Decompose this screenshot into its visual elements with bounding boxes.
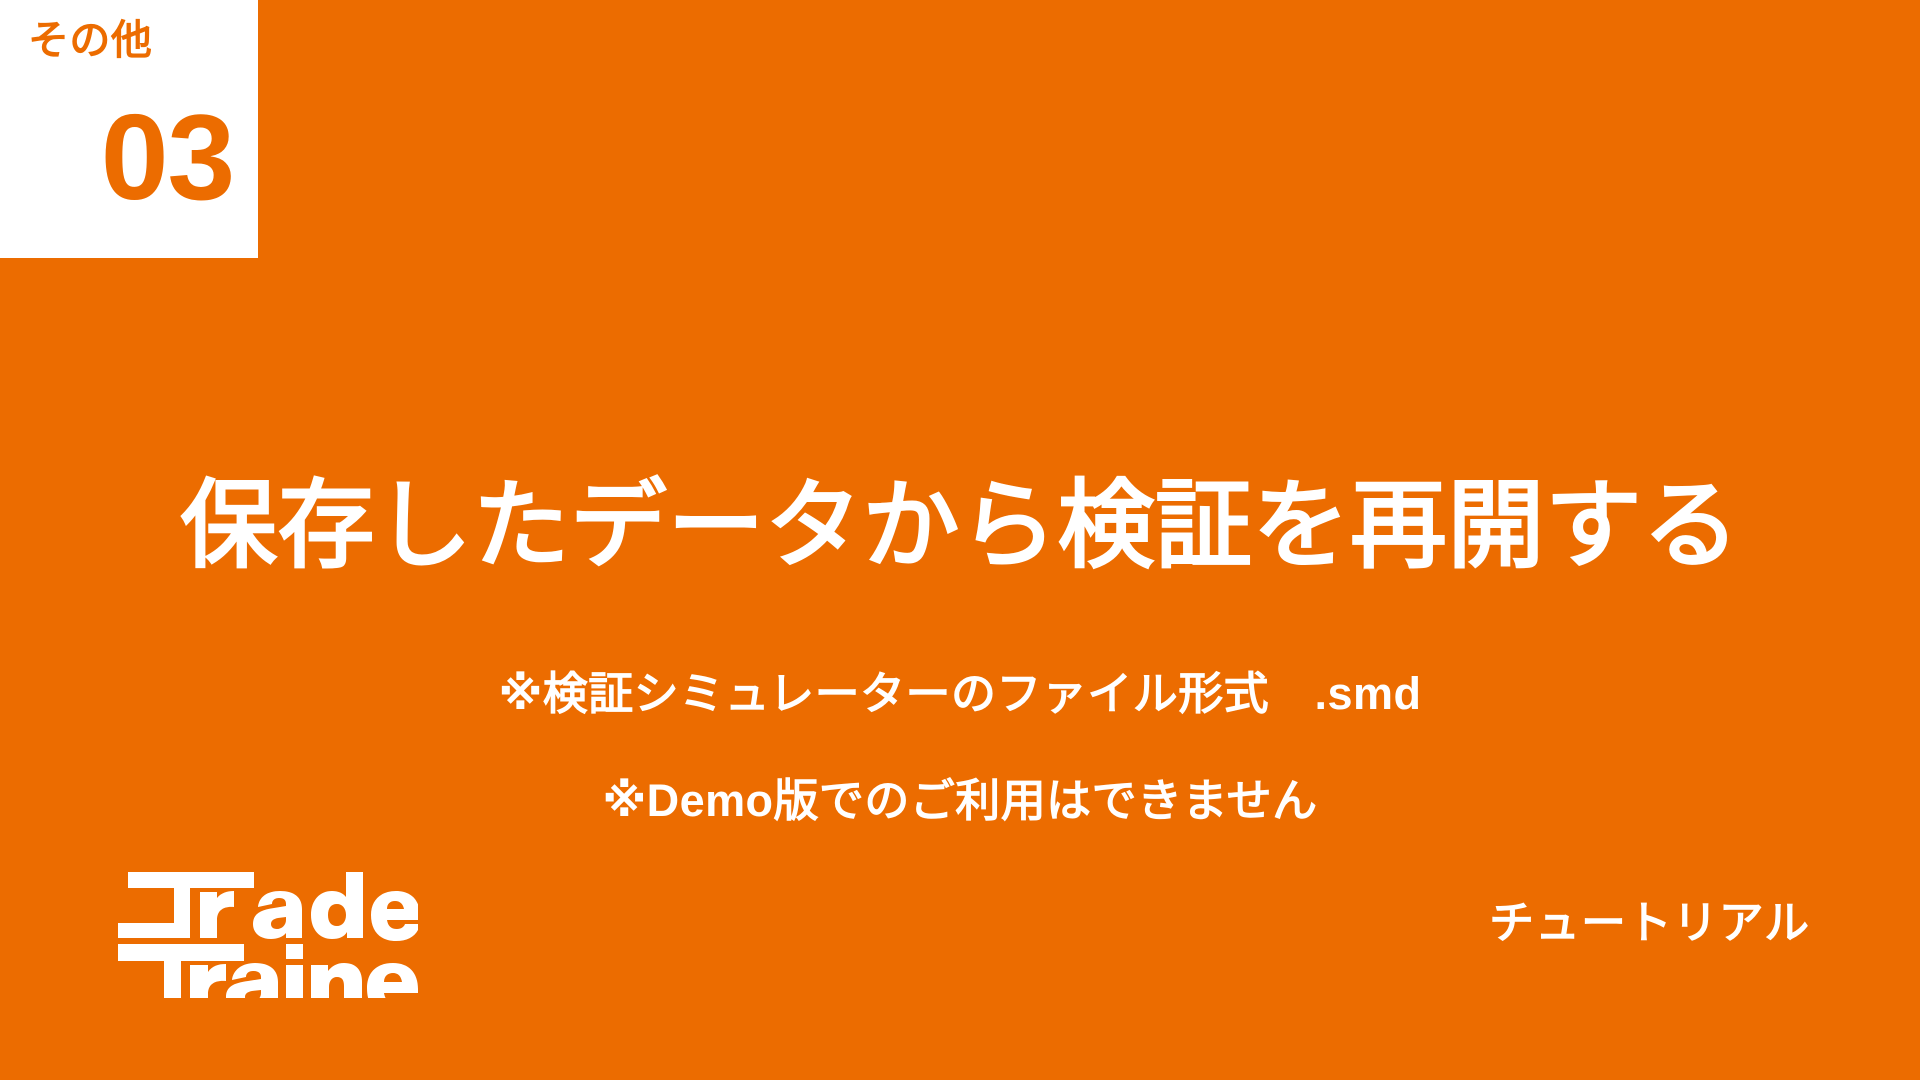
badge-category-label: その他 [28,20,152,61]
subtitle-line-1: ※検証シミュレーターのファイル形式 .smd [0,671,1920,716]
page-title: 保存したデータから検証を再開する [0,470,1920,583]
subtitle-list: ※検証シミュレーターのファイル形式 .smd ※Demo版でのご利用はできません [0,671,1920,823]
brand-logo-line-2: Trainer [118,998,119,999]
slide-content: 保存したデータから検証を再開する ※検証シミュレーターのファイル形式 .smd … [0,470,1920,823]
tutorial-title-slide: その他 03 保存したデータから検証を再開する ※検証シミュレーターのファイル形… [0,0,1920,1080]
badge-number-label: 03 [101,96,234,218]
footer-category-label: チュートリアル [1489,900,1810,945]
brand-logo: Trade Trainer [118,868,418,998]
trade-trainer-logo-icon [118,868,418,998]
category-badge: その他 03 [0,0,258,258]
brand-logo-line-1: Trade [118,998,119,999]
subtitle-line-2: ※Demo版でのご利用はできません [0,778,1920,823]
